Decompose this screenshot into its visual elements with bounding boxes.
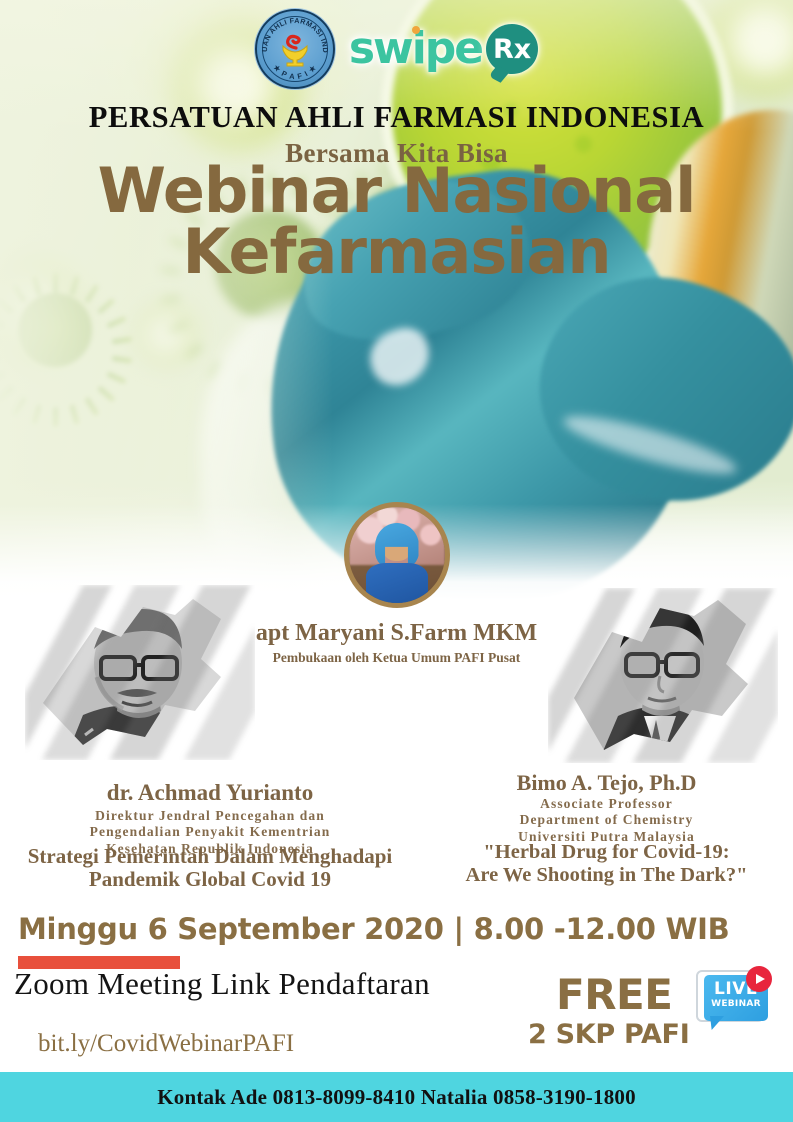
- left-speaker-name: dr. Achmad Yurianto: [0, 780, 420, 806]
- affiliation-line: Pengendalian Penyakit Kementrian: [0, 824, 420, 840]
- bowl-of-hygieia-icon: [277, 34, 313, 68]
- organization-name: PERSATUAN AHLI FARMASI INDONESIA: [0, 100, 793, 135]
- live-webinar-badge-icon: LIVE WEBINAR: [694, 968, 774, 1040]
- contact-footer: Kontak Ade 0813-8099-8410 Natalia 0858-3…: [0, 1072, 793, 1122]
- avatar: [344, 502, 450, 608]
- affiliation-line: Department of Chemistry: [420, 812, 793, 828]
- topic-line: Strategi Pemerintah Dalam Menghadapi: [0, 845, 420, 868]
- right-speaker-name: Bimo A. Tejo, Ph.D: [420, 770, 793, 796]
- registration-link[interactable]: bit.ly/CovidWebinarPAFI: [38, 1030, 294, 1058]
- play-icon: [746, 966, 772, 992]
- affiliation-line: Direktur Jendral Pencegahan dan: [0, 808, 420, 824]
- logo-row: PERSATUAN AHLI FARMASI INDONESIA ★ P A F…: [0, 8, 793, 90]
- price-label: FREE: [556, 970, 672, 1019]
- swipe-i-dot: [412, 26, 420, 34]
- webinar-poster: PERSATUAN AHLI FARMASI INDONESIA ★ P A F…: [0, 0, 793, 1122]
- platform-line: Zoom Meeting Link Pendaftaran: [14, 966, 430, 1002]
- title-line-2: Kefarmasian: [0, 223, 793, 282]
- contact-text: Kontak Ade 0813-8099-8410 Natalia 0858-3…: [157, 1085, 636, 1110]
- rx-label: Rx: [493, 36, 531, 63]
- affiliation-line: Associate Professor: [420, 796, 793, 812]
- topic-line: Are We Shooting in The Dark?": [420, 864, 793, 887]
- credits-label: 2 SKP PAFI: [528, 1019, 689, 1050]
- topic-line: Pandemik Global Covid 19: [0, 868, 420, 891]
- right-speaker-photo: [548, 588, 778, 763]
- left-speaker-photo: [25, 585, 255, 760]
- swiperx-logo: swipe Rx: [349, 24, 538, 74]
- poster-title: Webinar Nasional Kefarmasian: [0, 162, 793, 282]
- right-speaker-topic: "Herbal Drug for Covid-19: Are We Shooti…: [420, 841, 793, 886]
- live-badge-subtitle: WEBINAR: [704, 1000, 768, 1009]
- pafi-logo-icon: PERSATUAN AHLI FARMASI INDONESIA ★ P A F…: [255, 9, 335, 89]
- event-datetime: Minggu 6 September 2020 | 8.00 -12.00 WI…: [18, 912, 729, 946]
- topic-line: "Herbal Drug for Covid-19:: [420, 841, 793, 864]
- rx-speech-bubble-icon: Rx: [486, 24, 538, 74]
- right-speaker-affiliation: Associate Professor Department of Chemis…: [420, 796, 793, 845]
- left-speaker-topic: Strategi Pemerintah Dalam Menghadapi Pan…: [0, 845, 420, 890]
